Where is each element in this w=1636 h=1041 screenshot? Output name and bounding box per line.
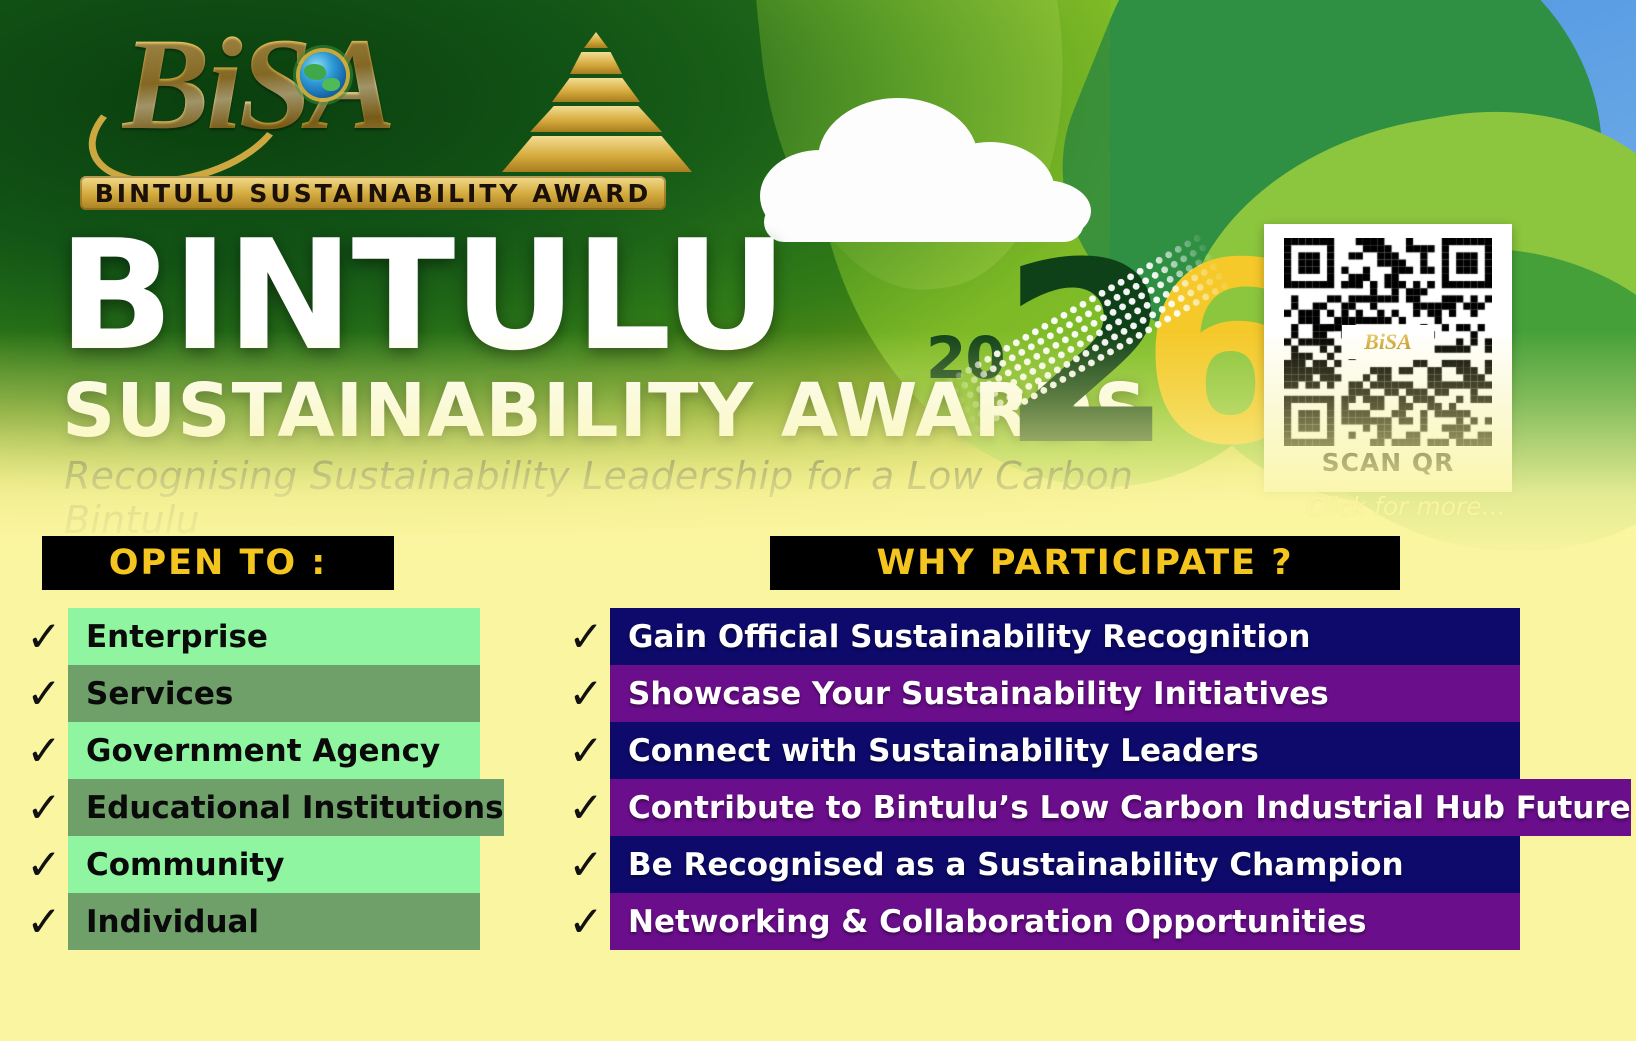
list-item-label: Networking & Collaboration Opportunities [628, 904, 1366, 940]
why-participate-list: ✓Gain Official Sustainability Recognitio… [562, 608, 1520, 950]
list-item-pill: Showcase Your Sustainability Initiatives [610, 665, 1520, 722]
why-participate-heading-bar: WHY PARTICIPATE ? [770, 536, 1400, 590]
bisa-logo: BiSA BINTULU SUSTAINABILITY AWARD [72, 24, 672, 214]
check-icon: ✓ [562, 787, 610, 829]
hero-banner: BiSA BINTULU SUSTAINABILITY AWARD BINTUL… [0, 0, 1636, 560]
logo-badge-text: BINTULU SUSTAINABILITY AWARD [95, 179, 652, 208]
list-item-label: Contribute to Bintulu’s Low Carbon Indus… [628, 790, 1631, 826]
check-icon: ✓ [562, 616, 610, 658]
list-item-pill: Gain Official Sustainability Recognition [610, 608, 1520, 665]
list-item: ✓Connect with Sustainability Leaders [562, 722, 1520, 779]
list-item-pill: Services [68, 665, 480, 722]
list-item: ✓Educational Institutions [20, 779, 480, 836]
logo-mark: BiSA [72, 24, 672, 174]
pyramid-icon [502, 32, 692, 172]
check-icon: ✓ [20, 844, 68, 886]
list-item-pill: Educational Institutions [68, 779, 504, 836]
list-item-label: Educational Institutions [86, 790, 504, 826]
open-to-heading: OPEN TO : [109, 543, 328, 583]
list-item-label: Government Agency [86, 733, 440, 769]
list-item-label: Services [86, 676, 233, 712]
list-item-label: Enterprise [86, 619, 268, 655]
list-item-pill: Networking & Collaboration Opportunities [610, 893, 1520, 950]
list-item-pill: Community [68, 836, 480, 893]
list-item-label: Individual [86, 904, 259, 940]
list-item-label: Be Recognised as a Sustainability Champi… [628, 847, 1404, 883]
check-icon: ✓ [562, 901, 610, 943]
list-item-pill: Enterprise [68, 608, 480, 665]
check-icon: ✓ [20, 730, 68, 772]
list-item-pill: Individual [68, 893, 480, 950]
why-participate-heading: WHY PARTICIPATE ? [876, 543, 1293, 583]
check-icon: ✓ [562, 844, 610, 886]
list-item-pill: Connect with Sustainability Leaders [610, 722, 1520, 779]
check-icon: ✓ [20, 673, 68, 715]
list-item-pill: Contribute to Bintulu’s Low Carbon Indus… [610, 779, 1631, 836]
lower-section: OPEN TO : WHY PARTICIPATE ? ✓Enterprise✓… [0, 520, 1636, 1041]
list-item: ✓Gain Official Sustainability Recognitio… [562, 608, 1520, 665]
list-item-pill: Be Recognised as a Sustainability Champi… [610, 836, 1520, 893]
list-item-pill: Government Agency [68, 722, 480, 779]
globe-icon [300, 52, 346, 98]
list-item-label: Showcase Your Sustainability Initiatives [628, 676, 1329, 712]
list-item: ✓Networking & Collaboration Opportunitie… [562, 893, 1520, 950]
list-item: ✓Community [20, 836, 480, 893]
open-to-list: ✓Enterprise✓Services✓Government Agency✓E… [20, 608, 480, 950]
list-item: ✓Be Recognised as a Sustainability Champ… [562, 836, 1520, 893]
list-item: ✓Services [20, 665, 480, 722]
logo-badge: BINTULU SUSTAINABILITY AWARD [80, 176, 666, 210]
poster-root: BiSA BINTULU SUSTAINABILITY AWARD BINTUL… [0, 0, 1636, 1041]
check-icon: ✓ [562, 730, 610, 772]
list-item-label: Connect with Sustainability Leaders [628, 733, 1259, 769]
check-icon: ✓ [20, 616, 68, 658]
list-item-label: Community [86, 847, 284, 883]
logo-letters: BiSA [122, 18, 392, 150]
list-item: ✓Showcase Your Sustainability Initiative… [562, 665, 1520, 722]
list-item: ✓Contribute to Bintulu’s Low Carbon Indu… [562, 779, 1520, 836]
list-item: ✓Enterprise [20, 608, 480, 665]
list-item: ✓Individual [20, 893, 480, 950]
check-icon: ✓ [20, 901, 68, 943]
list-item-label: Gain Official Sustainability Recognition [628, 619, 1310, 655]
check-icon: ✓ [20, 787, 68, 829]
list-item: ✓Government Agency [20, 722, 480, 779]
open-to-heading-bar: OPEN TO : [42, 536, 394, 590]
check-icon: ✓ [562, 673, 610, 715]
